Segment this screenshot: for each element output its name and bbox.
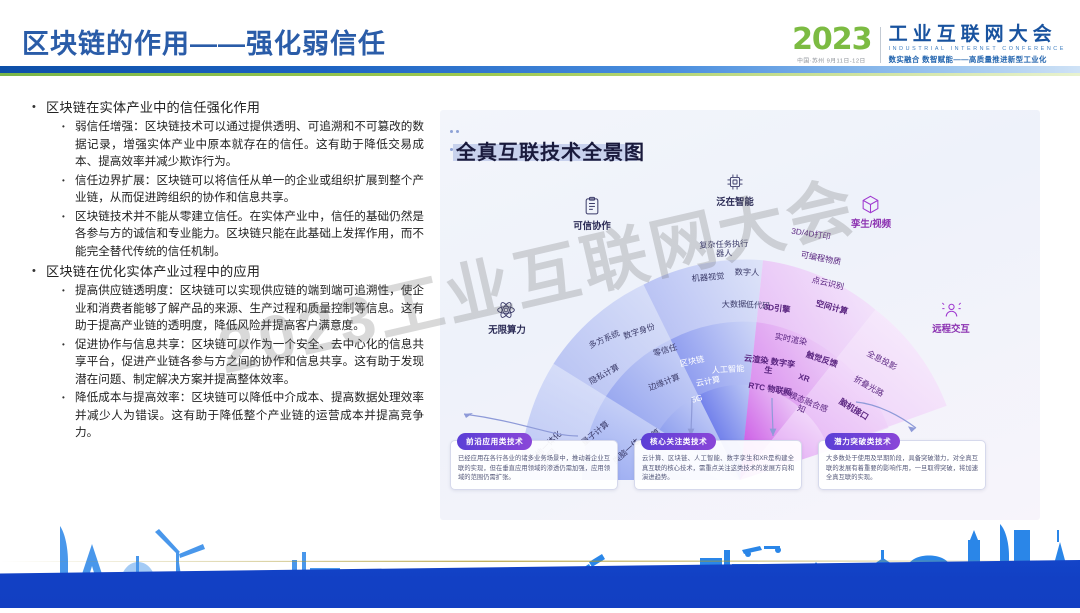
tech-label: 复杂任务执行器人: [696, 239, 751, 259]
bullet-item-7: •降低成本与提高效率：区块链可以降低中介成本、提高数据处理效率并减少人为错误。这…: [62, 389, 424, 442]
infographic-panel: 全真互联技术全景图: [440, 110, 1040, 520]
bullet-text: 弱信任增强：区块链技术可以通过提供透明、可追溯和不可篡改的数据记录，增强实体产业…: [75, 118, 424, 171]
group-label-0: 无限算力: [476, 322, 538, 336]
group-label-2: 泛在智能: [705, 194, 765, 208]
page-title: 区块链的作用——强化弱信任: [22, 22, 386, 61]
group-label-4: 远程交互: [918, 321, 984, 335]
atom-icon: [496, 300, 516, 320]
bullet-item-6: •促进协作与信息共享：区块链可以作为一个安全、去中心化的信息共享平台，促进产业链…: [62, 336, 424, 389]
bullet-marker: •: [32, 262, 46, 281]
bullet-item-3: •区块链技术并不能从零建立信任。在实体产业中，信任的基础仍然是各参与方的诚信和专…: [62, 208, 424, 261]
bullet-text: 促进协作与信息共享：区块链可以作为一个安全、去中心化的信息共享平台，促进产业链各…: [75, 336, 424, 389]
tech-label: 大数据: [721, 298, 746, 310]
bullet-item-1: •弱信任增强：区块链技术可以通过提供透明、可追溯和不可篡改的数据记录，增强实体产…: [62, 118, 424, 171]
logo-year: 2023: [792, 26, 872, 55]
legend-body-1: 云计算、区块链、人工智能、数字孪生和XR是构建全真互联的核心技术，需重点关注这类…: [642, 454, 794, 483]
bullet-marker: •: [62, 282, 75, 300]
bullet-marker: •: [62, 172, 75, 190]
bullet-text: 区块链在实体产业中的信任强化作用: [46, 98, 260, 117]
logo-date: 中国·苏州 9月11日-12日: [797, 57, 866, 65]
bullet-text: 区块链在优化实体产业过程中的应用: [46, 262, 260, 281]
logo-divider: [880, 27, 881, 63]
bullet-marker: •: [62, 389, 75, 407]
chip-icon: [725, 172, 745, 192]
bullet-text: 提高供应链透明度：区块链可以实现供应链的端到端可追溯性，使企业和消费者能够了解产…: [75, 282, 424, 335]
header-divider-green: [0, 73, 1080, 76]
legend-arrow-2: [758, 396, 798, 440]
header-divider-blue: [0, 66, 1080, 73]
footer-skyline: [0, 516, 1080, 608]
legend-tag-0: 前沿应用类技术: [457, 433, 532, 450]
legend-body-2: 大多数处于使用及早期阶段，具备突破潜力，对全真互联的发展有着重要的影响作用，一旦…: [826, 454, 978, 483]
logo-text-block: 工业互联网大会 INDUSTRIAL INTERNET CONFERENCE 数…: [889, 25, 1066, 65]
bullet-item-0: •区块链在实体产业中的信任强化作用: [32, 98, 424, 117]
legend-card-1: 核心关注类技术 云计算、区块链、人工智能、数字孪生和XR是构建全真互联的核心技术…: [634, 440, 802, 490]
logo-title-cn: 工业互联网大会: [889, 25, 1066, 45]
tech-label: 数字人: [735, 266, 760, 278]
logo-year-block: 2023 中国·苏州 9月11日-12日: [792, 26, 872, 64]
conference-logo: 2023 中国·苏州 9月11日-12日 工业互联网大会 INDUSTRIAL …: [792, 25, 1066, 65]
group-label-3: 孪生/视频: [836, 216, 906, 230]
logo-title-en: INDUSTRIAL INTERNET CONFERENCE: [889, 46, 1066, 52]
bullet-text: 区块链技术并不能从零建立信任。在实体产业中，信任的基础仍然是各参与方的诚信和专业…: [75, 208, 424, 261]
bullet-marker: •: [62, 118, 75, 136]
bullet-item-4: •区块链在优化实体产业过程中的应用: [32, 262, 424, 281]
tech-label: 人工智能: [712, 362, 745, 376]
clipboard-icon: [582, 196, 602, 216]
bullet-list: •区块链在实体产业中的信任强化作用•弱信任增强：区块链技术可以通过提供透明、可追…: [32, 96, 424, 442]
bullet-item-5: •提高供应链透明度：区块链可以实现供应链的端到端可追溯性，使企业和消费者能够了解…: [62, 282, 424, 335]
legend-body-0: 已经应用在各行各业的诸多业务场景中，推动着企业互联的实现，但在垂直应用领域的渗透…: [458, 454, 610, 483]
group-label-1: 可信协作: [562, 218, 622, 232]
logo-subtitle: 数实融合 数智赋能——高质量推进新型工业化: [889, 54, 1066, 65]
legend-tag-1: 核心关注类技术: [641, 433, 716, 450]
legend-card-0: 前沿应用类技术 已经应用在各行各业的诸多业务场景中，推动着企业互联的实现，但在垂…: [450, 440, 618, 490]
bullet-marker: •: [62, 336, 75, 354]
bullet-item-2: •信任边界扩展：区块链可以将信任从单一的企业或组织扩展到整个产业链，从而促进跨组…: [62, 172, 424, 207]
remote-icon: [941, 299, 961, 319]
bullet-marker: •: [62, 208, 75, 226]
cube-icon: [860, 194, 880, 214]
legend-tag-2: 潜力突破类技术: [825, 433, 900, 450]
tech-label: 机器视觉: [691, 269, 725, 284]
bullet-text: 信任边界扩展：区块链可以将信任从单一的企业或组织扩展到整个产业链，从而促进跨组织…: [75, 172, 424, 207]
bullet-marker: •: [32, 98, 46, 117]
legend-card-2: 潜力突破类技术 大多数处于使用及早期阶段，具备突破潜力，对全真互联的发展有着重要…: [818, 440, 986, 490]
bullet-text: 降低成本与提高效率：区块链可以降低中介成本、提高数据处理效率并减少人为错误。这有…: [75, 389, 424, 442]
